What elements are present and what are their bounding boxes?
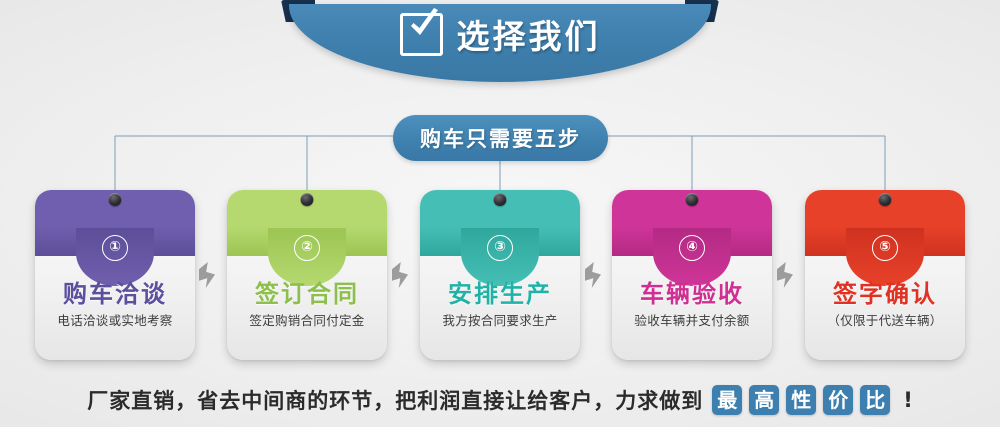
footer-highlight-group: 最高性价比 (712, 385, 890, 415)
step-card-2-title: 签订合同 (227, 274, 387, 309)
step-card-2-subtitle: 签定购销合同付定金 (227, 310, 387, 329)
banner-title: 选择我们 (457, 10, 601, 58)
steps-pill-badge: 购车只需要五步 (393, 115, 608, 161)
footer-text-after: ! (903, 388, 913, 412)
step-card-5-number: ⑤ (872, 235, 898, 261)
footer-highlight-char: 性 (786, 385, 816, 415)
footer-slogan: 厂家直销，省去中间商的环节，把利润直接让给客户，力求做到 最高性价比 ! (0, 378, 1000, 422)
pin-hole-icon (301, 193, 314, 206)
step-card-4-title: 车辆验收 (612, 274, 772, 309)
check-mark-icon (407, 8, 441, 42)
infographic-canvas: 选择我们 购车只需要五步 ① 购车洽谈 电话洽谈或实地考察 (0, 0, 1000, 427)
steps-card-row: ① 购车洽谈 电话洽谈或实地考察 ② 签订合同 签定购销合同付定金 ③ 安排生产… (0, 190, 1000, 365)
step-card-2[interactable]: ② 签订合同 签定购销合同付定金 (227, 190, 387, 360)
step-card-1-number: ① (102, 235, 128, 261)
step-card-3[interactable]: ③ 安排生产 我方按合同要求生产 (420, 190, 580, 360)
pin-hole-icon (494, 193, 507, 206)
pin-hole-icon (686, 193, 699, 206)
step-card-3-subtitle: 我方按合同要求生产 (420, 310, 580, 329)
footer-highlight-char: 高 (749, 385, 779, 415)
header-banner: 选择我们 (281, 0, 719, 88)
step-card-5[interactable]: ⑤ 签字确认 （仅限于代送车辆） (805, 190, 965, 360)
banner-body: 选择我们 (289, 4, 711, 82)
footer-text-before: 厂家直销，省去中间商的环节，把利润直接让给客户，力求做到 (87, 385, 703, 415)
footer-highlight-char: 比 (860, 385, 890, 415)
pin-hole-icon (879, 193, 892, 206)
step-card-1[interactable]: ① 购车洽谈 电话洽谈或实地考察 (35, 190, 195, 360)
step-card-5-title: 签字确认 (805, 274, 965, 309)
steps-pill-label: 购车只需要五步 (420, 123, 581, 153)
step-card-1-title: 购车洽谈 (35, 274, 195, 309)
step-card-3-title: 安排生产 (420, 274, 580, 309)
footer-highlight-char: 价 (823, 385, 853, 415)
step-card-4-subtitle: 验收车辆并支付余额 (612, 310, 772, 329)
step-card-1-subtitle: 电话洽谈或实地考察 (35, 310, 195, 329)
step-card-4-number: ④ (679, 235, 705, 261)
checkbox-check-icon (400, 13, 443, 56)
step-card-5-subtitle: （仅限于代送车辆） (805, 310, 965, 329)
step-card-4[interactable]: ④ 车辆验收 验收车辆并支付余额 (612, 190, 772, 360)
pin-hole-icon (109, 193, 122, 206)
footer-highlight-char: 最 (712, 385, 742, 415)
step-card-3-number: ③ (487, 235, 513, 261)
step-card-2-number: ② (294, 235, 320, 261)
